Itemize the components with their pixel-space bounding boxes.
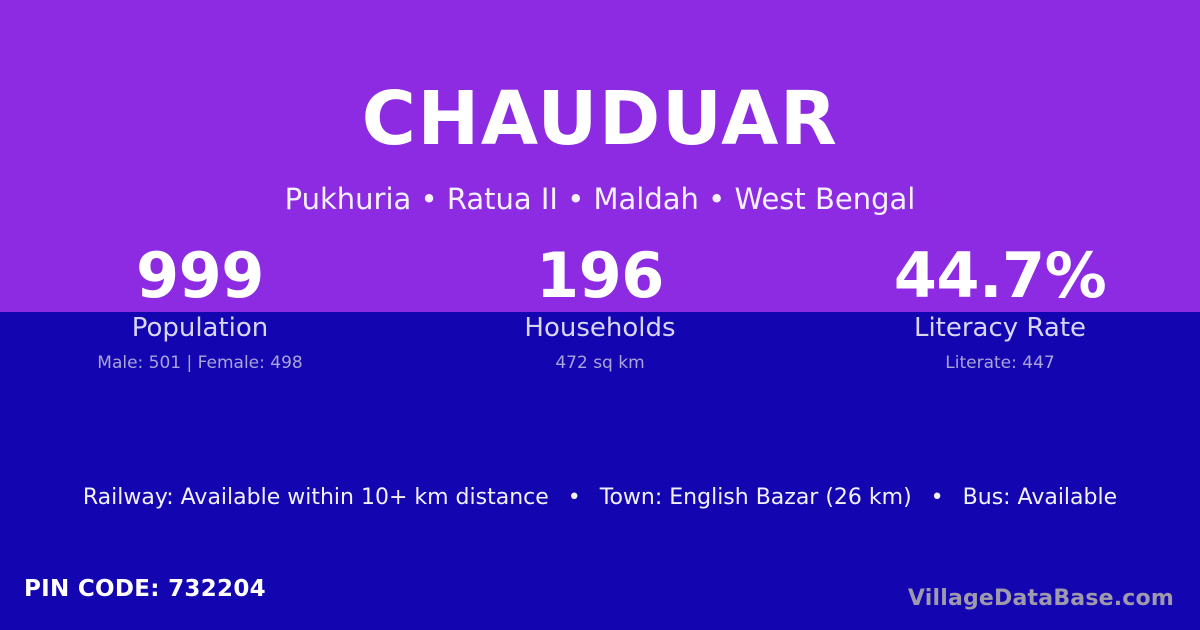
stat-households: 196 Households 472 sq km (400, 243, 800, 374)
stat-population: 999 Population Male: 501 | Female: 498 (0, 243, 400, 374)
stat-population-value: 999 (0, 243, 400, 308)
stat-population-label: Population (0, 314, 400, 344)
amenity-town: Town: English Bazar (26 km) (600, 485, 912, 510)
stat-literacy: 44.7% Literacy Rate Literate: 447 (800, 243, 1200, 374)
stat-households-value: 196 (400, 243, 800, 308)
amenity-railway: Railway: Available within 10+ km distanc… (83, 485, 549, 510)
page-title: CHAUDUAR (0, 82, 1200, 156)
location-breadcrumb: Pukhuria • Ratua II • Maldah • West Beng… (0, 182, 1200, 217)
amenity-separator-1: • (556, 484, 593, 513)
village-info-card: CHAUDUAR Pukhuria • Ratua II • Maldah • … (0, 0, 1200, 630)
stats-row: 999 Population Male: 501 | Female: 498 1… (0, 243, 1200, 374)
amenity-bus: Bus: Available (963, 485, 1117, 510)
amenity-separator-2: • (919, 484, 956, 513)
stat-literacy-label: Literacy Rate (800, 314, 1200, 344)
stat-households-label: Households (400, 314, 800, 344)
amenities-line: Railway: Available within 10+ km distanc… (0, 484, 1200, 513)
stat-population-breakdown: Male: 501 | Female: 498 (0, 354, 400, 374)
stat-literacy-value: 44.7% (800, 243, 1200, 308)
site-watermark: VillageDataBase.com (908, 586, 1174, 612)
stat-households-area: 472 sq km (400, 354, 800, 374)
stat-literacy-count: Literate: 447 (800, 354, 1200, 374)
pin-code: PIN CODE: 732204 (24, 576, 266, 604)
